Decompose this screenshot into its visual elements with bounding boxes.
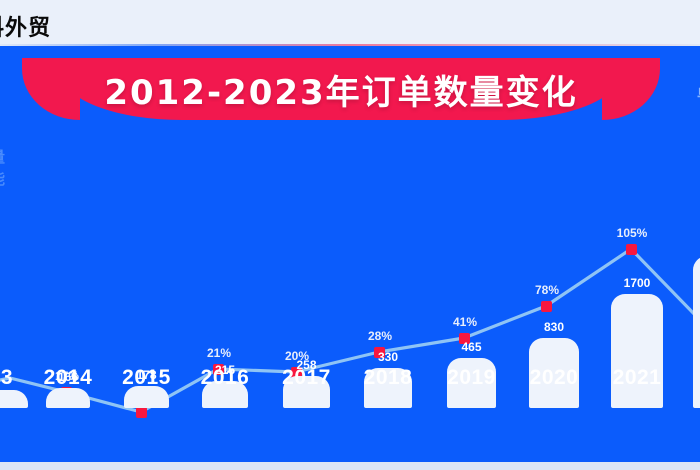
pct-label-2016: 21% (207, 346, 231, 360)
poster-screenshot: 料外贸 2012-2023年订单数量变化 量能 单 (0, 0, 700, 470)
chart-poster: 2012-2023年订单数量变化 量能 单 17% (0, 46, 700, 462)
bar-value-2021: 1700 (624, 276, 651, 290)
bar-2019: 465 2019 (447, 358, 496, 408)
bar-2022: 20 (693, 256, 700, 408)
bar-2017: 258 2017 (283, 376, 330, 408)
plot-area: 17% 7% 21% 20% 28% 41% 78% 105% 3 166 20… (0, 120, 700, 462)
pct-label-2019: 41% (453, 315, 477, 329)
pct-label-2018: 28% (368, 329, 392, 343)
x-label-2014: 2014 (44, 366, 93, 390)
bar-2015: 178 2015 (124, 386, 169, 408)
title-banner: 2012-2023年订单数量变化 (62, 58, 620, 120)
chart-title: 2012-2023年订单数量变化 (62, 58, 620, 120)
bottom-strip (0, 462, 700, 470)
bar-2021: 1700 2021 (611, 294, 663, 408)
x-label-2020: 2020 (530, 366, 579, 390)
x-label-2018: 2018 (364, 366, 413, 390)
pct-label-2020: 78% (535, 283, 559, 297)
bar-value-2020: 830 (544, 320, 564, 334)
site-title: 料外贸 (0, 10, 51, 42)
x-label-2013: 3 (1, 366, 13, 390)
x-label-2021: 2021 (613, 366, 662, 390)
top-bar: 料外贸 (0, 0, 700, 46)
x-label-2015: 2015 (122, 366, 171, 390)
x-label-2017: 2017 (282, 366, 331, 390)
bar-value-2018: 330 (378, 350, 398, 364)
x-label-2016: 2016 (201, 366, 250, 390)
bar-2014: 166 2014 (46, 388, 90, 408)
pct-label-2021: 105% (617, 226, 648, 240)
bar-2018: 330 2018 (364, 368, 412, 408)
growth-rate-line (0, 249, 700, 412)
x-label-2019: 2019 (447, 366, 496, 390)
bar-2020: 830 2020 (529, 338, 579, 408)
bar-2016: 215 2016 (202, 381, 248, 408)
growth-rate-line-chart (0, 120, 700, 462)
bar-value-2019: 465 (461, 340, 481, 354)
